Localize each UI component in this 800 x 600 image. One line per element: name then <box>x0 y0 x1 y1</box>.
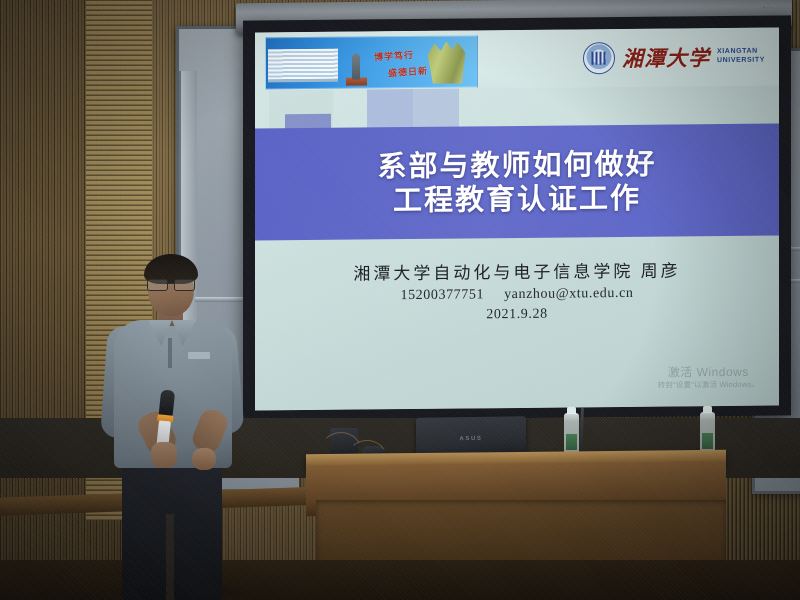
projection-screen-surface: 博学笃行 盛德日新 湘潭大学 XIANGTAN UNIVERSITY <box>255 27 779 410</box>
slide-subtitle-block: 湘潭大学自动化与电子信息学院 周彦 15200377751yanzhou@xtu… <box>255 255 779 325</box>
statue-figure <box>352 54 360 80</box>
slide-date: 2021.9.28 <box>486 307 547 324</box>
presenter-hand-right <box>192 448 216 470</box>
banner-calligraphy-line1: 博学笃行 <box>374 48 415 63</box>
eyeglass-lens-left <box>147 279 168 291</box>
eyeglass-lens-right <box>174 279 195 291</box>
presentation-slide: 博学笃行 盛德日新 湘潭大学 XIANGTAN UNIVERSITY <box>255 27 779 410</box>
university-name-en-line2: UNIVERSITY <box>717 57 765 66</box>
roller-label-icon: ▪ ▫ ▫ <box>764 5 772 11</box>
presenter <box>96 252 276 600</box>
campus-photo-banner: 博学笃行 盛德日新 <box>265 35 478 89</box>
trouser-leg-gap <box>166 514 174 600</box>
slide-title-line2: 工程教育认证工作 <box>393 182 641 217</box>
slide-header: 博学笃行 盛德日新 湘潭大学 XIANGTAN UNIVERSITY <box>255 27 779 90</box>
university-seal-icon <box>583 42 615 74</box>
slide-contact-line: 15200377751yanzhou@xtu.edu.cn <box>390 286 643 304</box>
slide-email: yanzhou@xtu.edu.cn <box>504 286 633 302</box>
shirt-placket <box>168 338 172 368</box>
microphone-head <box>159 389 176 416</box>
slide-title: 系部与教师如何做好 工程教育认证工作 <box>255 123 779 240</box>
campus-gate-sculpture <box>425 39 469 83</box>
presenter-hand-left <box>151 442 177 468</box>
slide-author-line: 湘潭大学自动化与电子信息学院 周彦 <box>353 256 680 284</box>
shirt-chest-logo <box>188 352 210 359</box>
university-logo: 湘潭大学 XIANGTAN UNIVERSITY <box>583 34 765 82</box>
slide-phone: 15200377751 <box>400 287 484 303</box>
lecture-hall-photo: ▪ ▫ ▫ <box>0 0 800 600</box>
projection-screen-frame: 博学笃行 盛德日新 湘潭大学 XIANGTAN UNIVERSITY <box>243 15 791 420</box>
university-name-cn: 湘潭大学 <box>622 42 710 73</box>
campus-building <box>268 49 338 83</box>
banner-calligraphy-line2: 盛德日新 <box>388 64 429 79</box>
laptop-brand-logo: ASUS <box>459 436 482 442</box>
slide-title-line1: 系部与教师如何做好 <box>377 147 656 182</box>
windows-activation-watermark: 激活 Windows 转到"设置"以激活 Windows。 <box>658 364 759 390</box>
eyeglasses-icon <box>147 279 195 289</box>
university-name-en: XIANGTAN UNIVERSITY <box>717 48 765 66</box>
watermark-line2: 转到"设置"以激活 Windows。 <box>658 380 759 391</box>
watermark-line1: 激活 Windows <box>658 364 759 381</box>
